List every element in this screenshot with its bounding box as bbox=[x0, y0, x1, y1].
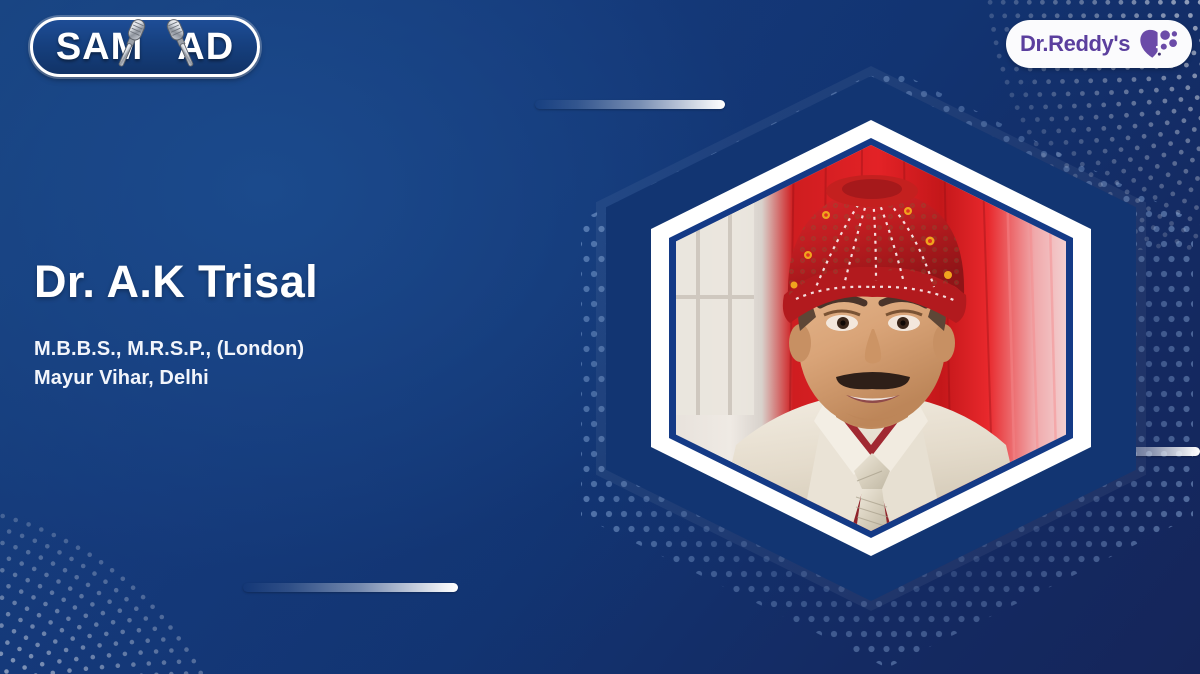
crossed-microphones-icon bbox=[118, 8, 196, 86]
speaker-info: Dr. A.K Trisal M.B.B.S., M.R.S.P., (Lond… bbox=[34, 258, 554, 393]
sponsor-logo-text: Dr.Reddy's bbox=[1020, 33, 1130, 55]
speaker-credentials: M.B.B.S., M.R.S.P., (London) Mayur Vihar… bbox=[34, 335, 554, 393]
sheen-line-top bbox=[535, 100, 725, 109]
dot-field-bottom-left bbox=[0, 400, 380, 674]
speaker-portrait-frame bbox=[651, 120, 1091, 556]
sponsor-logo-dr-reddys[interactable]: Dr.Reddy's bbox=[1006, 20, 1192, 68]
samvad-logo[interactable]: SAMAD bbox=[30, 17, 260, 77]
reddys-heart-dots-icon bbox=[1139, 27, 1178, 61]
slide-canvas: SAMAD bbox=[0, 0, 1200, 674]
speaker-name: Dr. A.K Trisal bbox=[34, 258, 554, 305]
speaker-location: Mayur Vihar, Delhi bbox=[34, 364, 554, 393]
speaker-qualifications: M.B.B.S., M.R.S.P., (London) bbox=[34, 335, 554, 364]
sheen-line-bottom-left bbox=[243, 583, 458, 592]
